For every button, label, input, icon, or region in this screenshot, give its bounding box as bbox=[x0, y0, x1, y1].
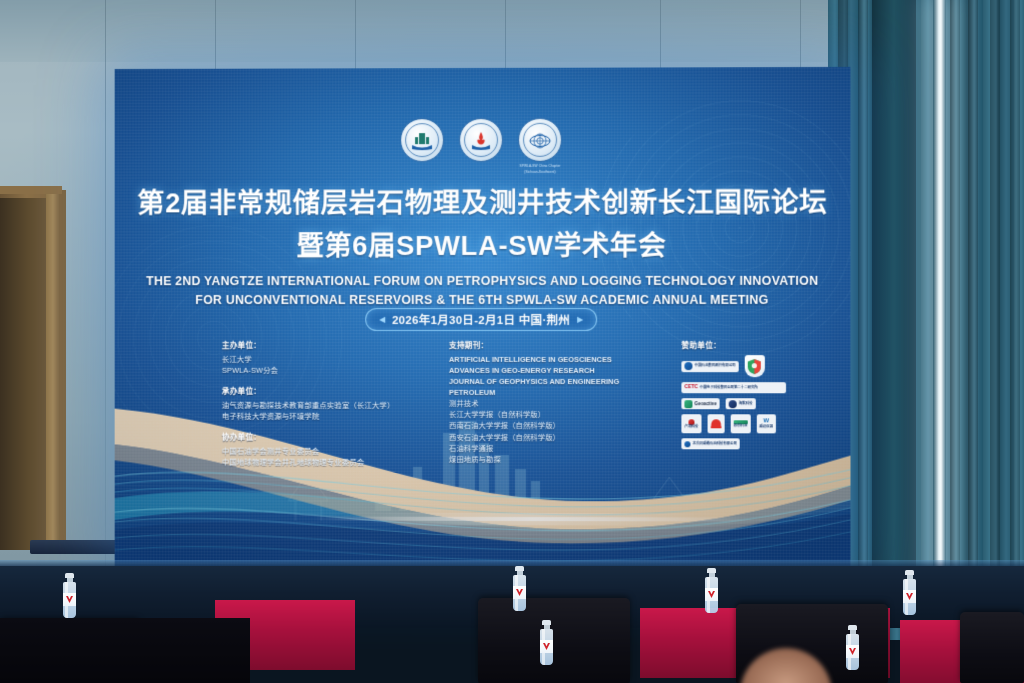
sponsor-logo-pink: 卢湾科技 bbox=[681, 414, 701, 433]
sponsor-mark-icon bbox=[729, 400, 737, 408]
date-location-text: 2026年1月30日-2月1日 中国·荆州 bbox=[392, 311, 570, 327]
spwla-sw-emblem: SPWLA-SW China Chapter (Sichuan-Southwes… bbox=[517, 118, 563, 175]
sponsor-mark-icon bbox=[684, 441, 690, 447]
sponsor-row: 北京贝威通石油科技有限公司 bbox=[681, 438, 850, 449]
journal-item: PETROLEUM bbox=[449, 387, 664, 398]
sponsor-logo-w: W 威远仪器 bbox=[756, 414, 776, 433]
bottle-label bbox=[513, 586, 526, 599]
group-coorganizer: 协办单位： 中国石油学会测井专业委员会 中国地球物理学会井孔地球物理专业委员会 bbox=[222, 432, 431, 469]
curtain-fold bbox=[1010, 0, 1020, 640]
date-pill: ◀ 2026年1月30日-2月1日 中国·荆州 ▶ bbox=[365, 308, 597, 331]
host-heading: 主办单位： bbox=[222, 340, 431, 351]
helmet-icon bbox=[710, 418, 721, 429]
sponsor-label: 卢湾科技 bbox=[684, 425, 698, 429]
geoactive-wordmark: Geoactive bbox=[694, 401, 716, 406]
column-sponsors: 赞助单位： 中国石油集团测井有限公司 bbox=[681, 340, 850, 455]
chevron-left-icon: ◀ bbox=[379, 316, 385, 323]
water-bottle bbox=[846, 625, 859, 670]
journal-item: JOURNAL OF GEOPHYSICS AND ENGINEERING bbox=[449, 376, 664, 387]
bottle-body bbox=[846, 634, 859, 670]
bottle-body bbox=[540, 629, 553, 665]
undertaker-heading: 承办单位： bbox=[222, 386, 431, 397]
water-bottle bbox=[540, 620, 553, 665]
journal-item: 西安石油大学学报（自然科学版） bbox=[449, 432, 664, 443]
journal-item: 测井技术 bbox=[449, 398, 664, 409]
coorganizer-item: 中国地球物理学会井孔地球物理专业委员会 bbox=[222, 457, 431, 469]
emblem-mark bbox=[411, 131, 433, 151]
sponsor-logo-shield bbox=[744, 355, 764, 377]
sponsor-logo-cetc: CETC 中国电子科技集团公司第二十二研究所 bbox=[681, 382, 786, 393]
sponsor-logo-grid: 中国石油集团测井有限公司 bbox=[681, 355, 850, 449]
sponsor-mark-icon bbox=[684, 362, 692, 370]
banner-info-columns: 主办单位： 长江大学 SPWLA-SW分会 承办单位： 油气资源与勘探技术教育部… bbox=[115, 340, 851, 501]
bottle-label bbox=[846, 645, 859, 658]
bottle-body bbox=[903, 579, 916, 615]
journals-heading: 支持期刊： bbox=[449, 340, 664, 351]
journal-item: ADVANCES IN GEO-ENERGY RESEARCH bbox=[449, 365, 664, 376]
title-chinese-line1: 第2届非常规储层岩石物理及测井技术创新长江国际论坛 bbox=[115, 179, 851, 220]
bottle-label bbox=[540, 640, 553, 653]
bottle-body bbox=[513, 575, 526, 611]
journal-item: 长江大学学报（自然科学版） bbox=[449, 409, 664, 420]
water-bottle bbox=[513, 566, 526, 611]
sponsor-logo-wide-bar: 北京贝威通石油科技有限公司 bbox=[681, 438, 739, 449]
sponsor-mark-icon bbox=[684, 400, 692, 408]
curtain-fold bbox=[968, 0, 978, 640]
title-chinese-line2: 暨第6届SPWLA-SW学术年会 bbox=[115, 223, 851, 264]
uestc-emblem bbox=[458, 118, 504, 162]
banner-title-block: 第2届非常规储层岩石物理及测井技术创新长江国际论坛 暨第6届SPWLA-SW学术… bbox=[115, 179, 851, 310]
sponsor-label: 海默科技 bbox=[739, 402, 753, 406]
water-bottle bbox=[903, 570, 916, 615]
curtain-dark-fold bbox=[872, 0, 916, 620]
column-organizers: 主办单位： 长江大学 SPWLA-SW分会 承办单位： 油气资源与勘探技术教育部… bbox=[222, 340, 431, 478]
sponsors-heading: 赞助单位： bbox=[681, 340, 850, 351]
undertaker-item: 电子科技大学资源与环境学院 bbox=[222, 411, 431, 423]
bottle-label bbox=[705, 588, 718, 601]
host-item: 长江大学 bbox=[222, 354, 431, 366]
curtain-fold bbox=[950, 0, 960, 640]
sponsor-label: 中国电子科技集团公司第二十二研究所 bbox=[700, 386, 758, 390]
sponsor-row: 卢湾科技 思创石油 bbox=[681, 414, 850, 433]
organization-emblems: SPWLA-SW China Chapter (Sichuan-Southwes… bbox=[115, 117, 851, 175]
host-item: SPWLA-SW分会 bbox=[222, 365, 431, 377]
journal-item: 西南石油大学学报（自然科学版） bbox=[449, 420, 664, 431]
sponsor-label: 威远仪器 bbox=[759, 425, 773, 429]
journal-item: 石油科学通报 bbox=[449, 443, 664, 454]
emblem-mark bbox=[470, 131, 492, 151]
led-surface: SPWLA-SW China Chapter (Sichuan-Southwes… bbox=[115, 67, 851, 572]
bottle-body bbox=[705, 577, 718, 613]
group-undertaker: 承办单位： 油气资源与勘探技术教育部重点实验室（长江大学） 电子科技大学资源与环… bbox=[222, 386, 431, 423]
foreground-chair-left bbox=[0, 618, 250, 683]
sponsor-logo-redcap bbox=[707, 414, 724, 433]
conference-hall-scene: SPWLA-SW China Chapter (Sichuan-Southwes… bbox=[0, 0, 1024, 683]
chair bbox=[960, 612, 1024, 683]
sponsor-logo-green-tag: 思创石油 bbox=[730, 414, 750, 433]
sponsor-label: 北京贝威通石油科技有限公司 bbox=[692, 442, 736, 446]
sponsor-row: CETC 中国电子科技集团公司第二十二研究所 bbox=[681, 382, 850, 393]
door-opening bbox=[0, 198, 46, 550]
sponsor-logo-navy-lock: 海默科技 bbox=[726, 398, 756, 409]
date-location-row: ◀ 2026年1月30日-2月1日 中国·荆州 ▶ bbox=[115, 308, 851, 331]
bottle-label bbox=[63, 593, 76, 606]
journal-item: ARTIFICIAL INTELLIGENCE IN GEOSCIENCES bbox=[449, 354, 664, 365]
coorganizer-item: 中国石油学会测井专业委员会 bbox=[222, 445, 431, 457]
column-journals: 支持期刊： ARTIFICIAL INTELLIGENCE IN GEOSCIE… bbox=[449, 340, 664, 465]
spwla-emblem-caption-1: SPWLA-SW China Chapter bbox=[517, 164, 563, 168]
changjiang-university-emblem bbox=[399, 118, 445, 162]
door-header bbox=[0, 186, 62, 194]
sponsor-row: 中国石油集团测井有限公司 bbox=[681, 355, 850, 377]
title-english-line1: THE 2ND YANGTZE INTERNATIONAL FORUM ON P… bbox=[115, 273, 851, 291]
curtain-light-gap bbox=[933, 0, 946, 618]
bottle-body bbox=[63, 582, 76, 618]
cetc-wordmark: CETC bbox=[684, 385, 697, 391]
sponsor-label: 思创石油 bbox=[733, 424, 747, 428]
journal-item: 煤田地质与勘探 bbox=[449, 454, 664, 465]
led-banner-screen: SPWLA-SW China Chapter (Sichuan-Southwes… bbox=[115, 67, 851, 572]
sponsor-label: 中国石油集团测井有限公司 bbox=[694, 364, 735, 368]
spwla-emblem-caption-2: (Sichuan-Southwest) bbox=[517, 170, 563, 174]
chevron-right-icon: ▶ bbox=[577, 316, 583, 324]
sponsor-logo-blue-circle: 中国石油集团测井有限公司 bbox=[681, 361, 738, 372]
door-jamb bbox=[46, 186, 60, 554]
sponsor-logo-geoactive: Geoactive bbox=[681, 398, 719, 409]
sponsor-row: Geoactive 海默科技 bbox=[681, 398, 850, 409]
bottle-label bbox=[903, 590, 916, 603]
water-bottle bbox=[63, 573, 76, 618]
curtain-fold bbox=[858, 0, 868, 640]
water-bottle bbox=[705, 568, 718, 613]
coorganizer-heading: 协办单位： bbox=[222, 432, 431, 443]
group-host: 主办单位： 长江大学 SPWLA-SW分会 bbox=[222, 340, 431, 377]
undertaker-item: 油气资源与勘探技术教育部重点实验室（长江大学） bbox=[222, 400, 431, 412]
emblem-mark bbox=[529, 131, 551, 151]
shield-icon bbox=[748, 359, 761, 374]
chair bbox=[478, 598, 630, 683]
curtain-fold bbox=[990, 0, 1000, 640]
